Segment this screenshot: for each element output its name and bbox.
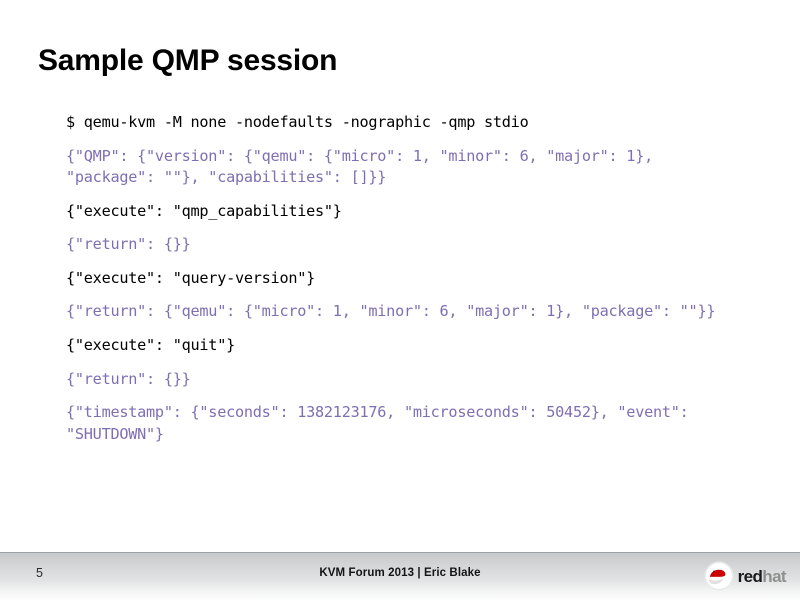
qmp-response-line: {"timestamp": {"seconds": 1382123176, "m… bbox=[66, 402, 736, 445]
slide-footer: 5 KVM Forum 2013 | Eric Blake redhat bbox=[0, 552, 800, 600]
slide: Sample QMP session $ qemu-kvm -M none -n… bbox=[0, 0, 800, 600]
footer-conference-label: KVM Forum 2013 | Eric Blake bbox=[0, 567, 800, 579]
qmp-request-line: {"execute": "quit"} bbox=[66, 335, 736, 357]
qmp-response-line: {"return": {}} bbox=[66, 369, 736, 391]
redhat-logo: redhat bbox=[704, 560, 786, 592]
page-title: Sample QMP session bbox=[38, 44, 337, 77]
redhat-shadowman-icon bbox=[704, 561, 734, 591]
shell-command-line: $ qemu-kvm -M none -nodefaults -nographi… bbox=[66, 112, 736, 134]
qmp-response-line: {"return": {"qemu": {"micro": 1, "minor"… bbox=[66, 301, 736, 323]
qmp-request-line: {"execute": "query-version"} bbox=[66, 268, 736, 290]
redhat-wordmark: redhat bbox=[738, 568, 786, 585]
redhat-wordmark-hat: hat bbox=[762, 567, 786, 586]
qmp-response-line: {"QMP": {"version": {"qemu": {"micro": 1… bbox=[66, 146, 736, 189]
qmp-response-line: {"return": {}} bbox=[66, 234, 736, 256]
redhat-wordmark-red: red bbox=[738, 567, 763, 586]
qmp-transcript: $ qemu-kvm -M none -nodefaults -nographi… bbox=[66, 112, 736, 457]
qmp-request-line: {"execute": "qmp_capabilities"} bbox=[66, 201, 736, 223]
